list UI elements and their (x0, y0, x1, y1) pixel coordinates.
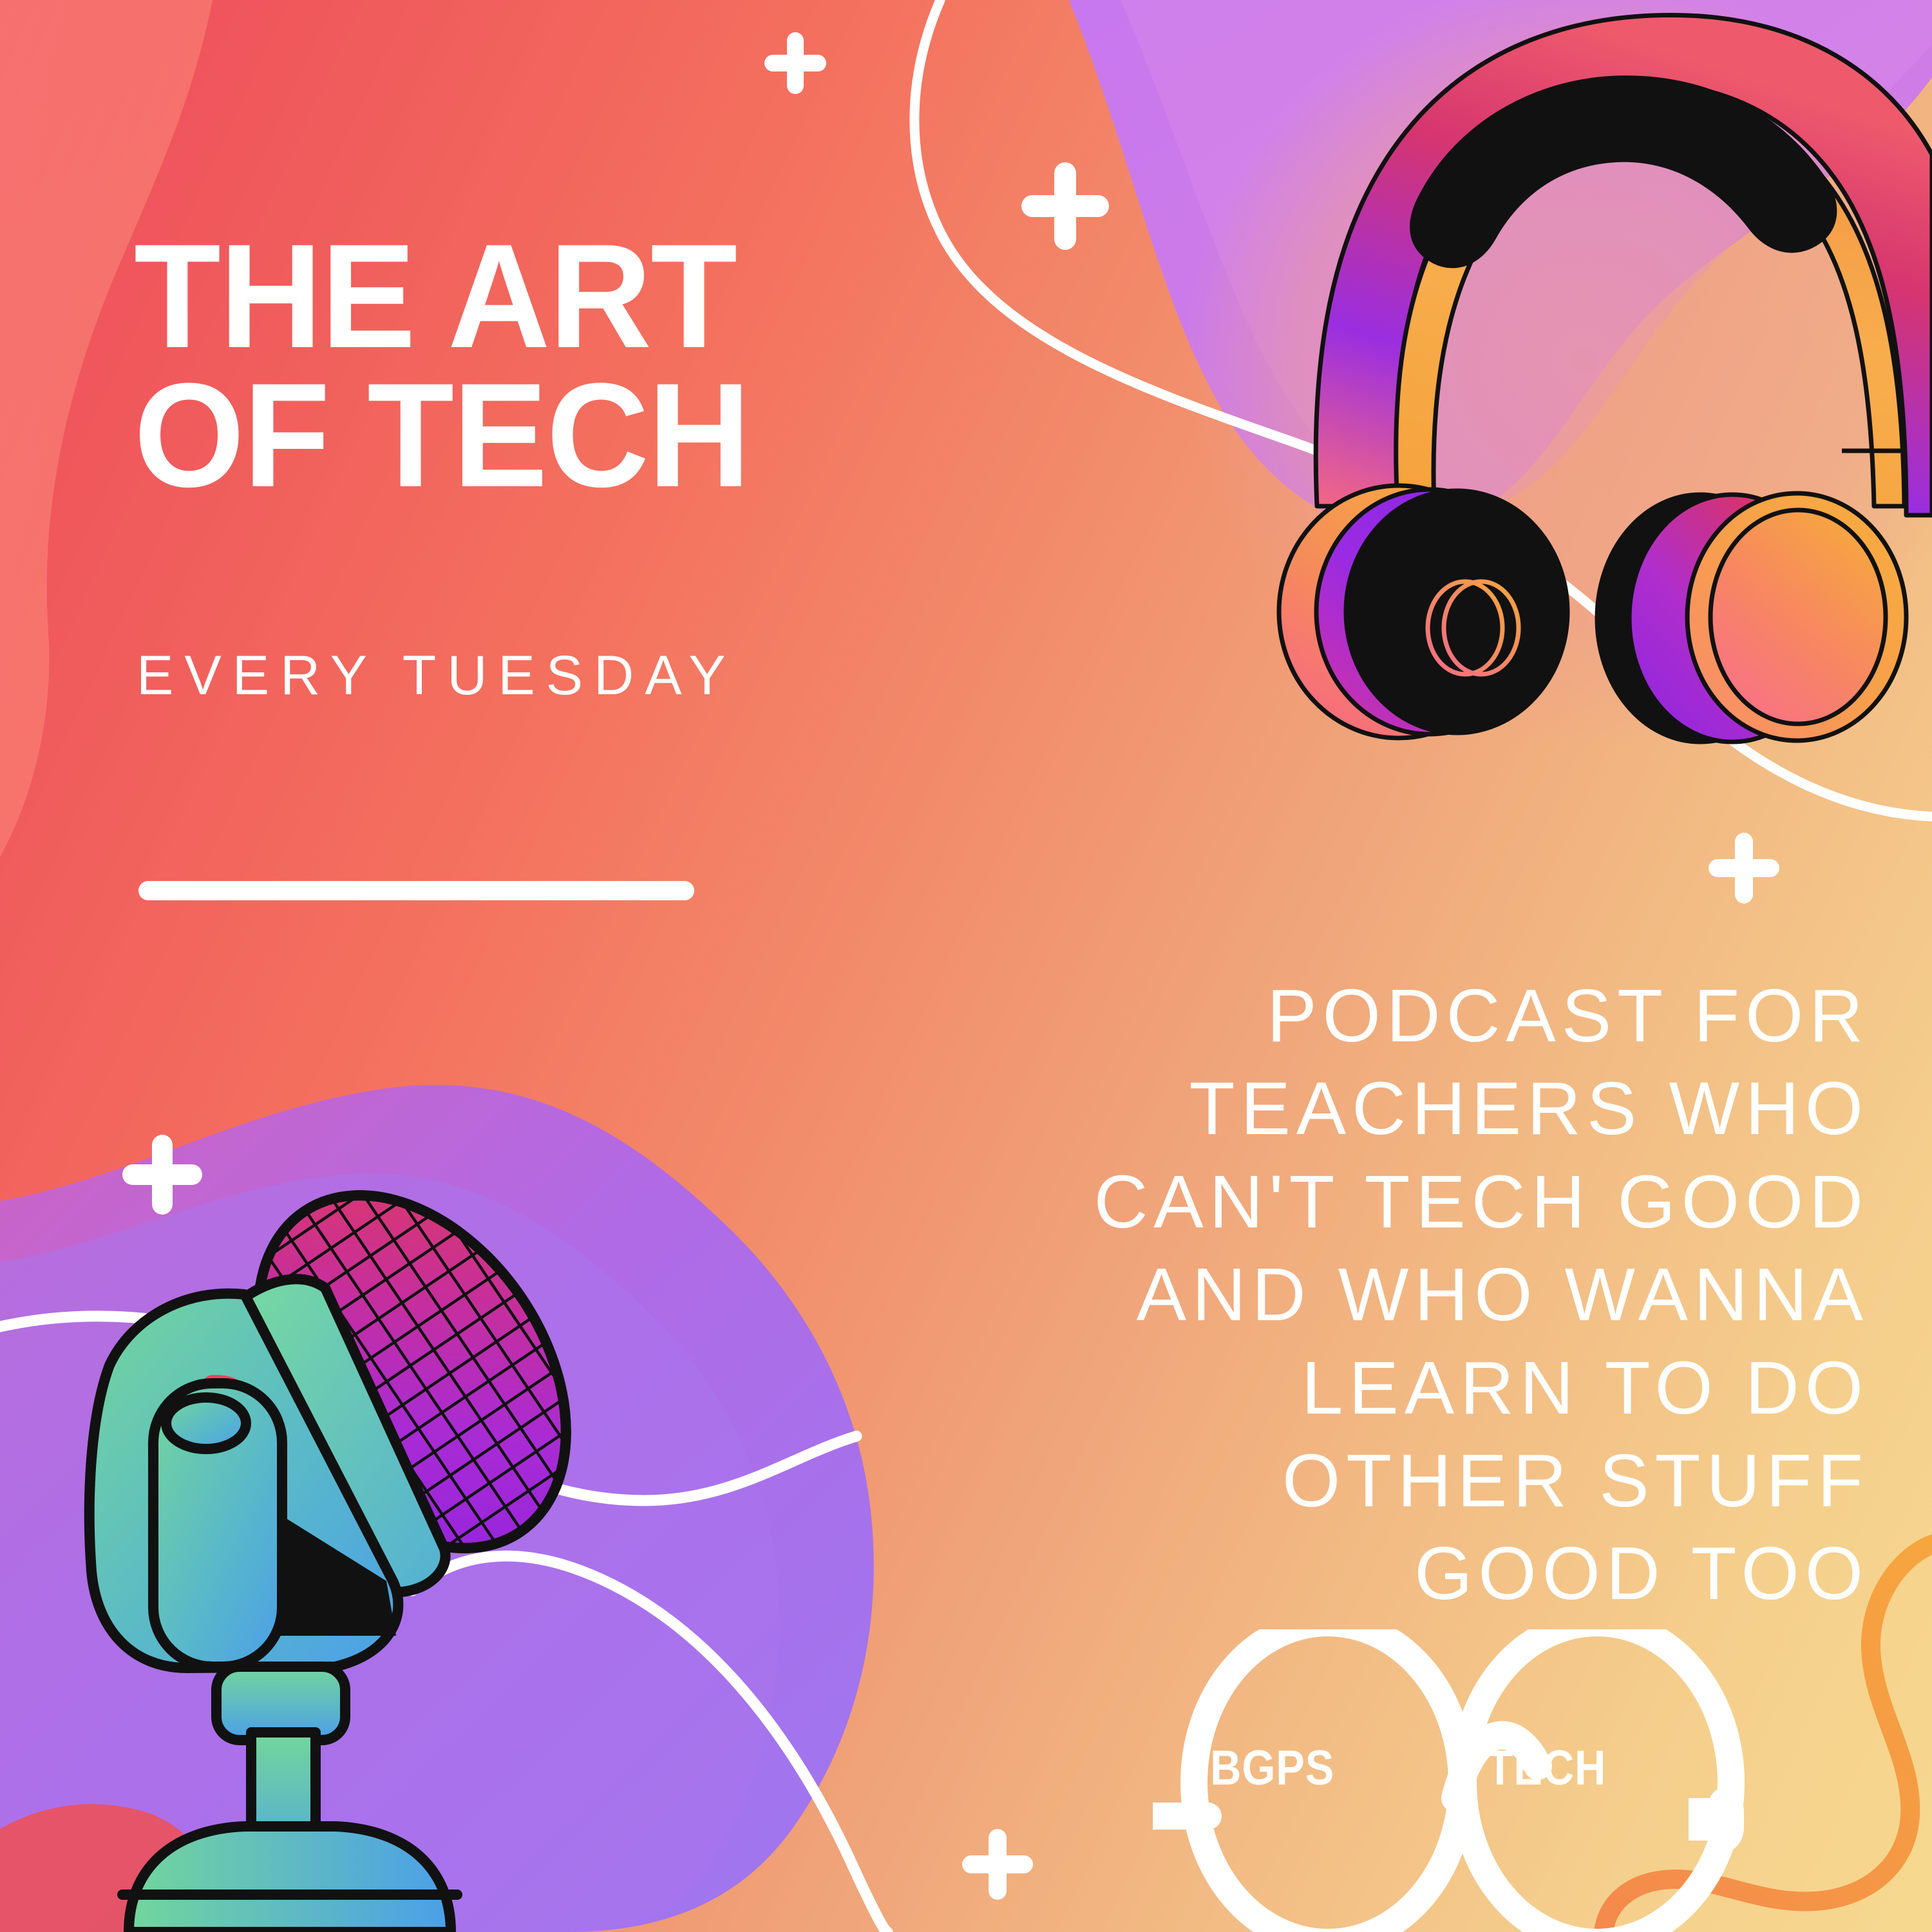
podcast-cover-poster: THE ART OF TECH EVERY TUESDAY PODCAST FO… (0, 0, 1932, 1932)
subtitle-schedule: EVERY TUESDAY (137, 644, 737, 708)
glasses-icon: BGPS TECH (1153, 1629, 1745, 1932)
lens-label-left: BGPS (1210, 1740, 1334, 1796)
description-text: PODCAST FOR TEACHERS WHO CAN'T TECH GOOD… (645, 969, 1869, 1620)
lens-label-right: TECH (1487, 1740, 1607, 1796)
page-title: THE ART OF TECH (134, 227, 1061, 505)
divider-rule (138, 881, 694, 900)
